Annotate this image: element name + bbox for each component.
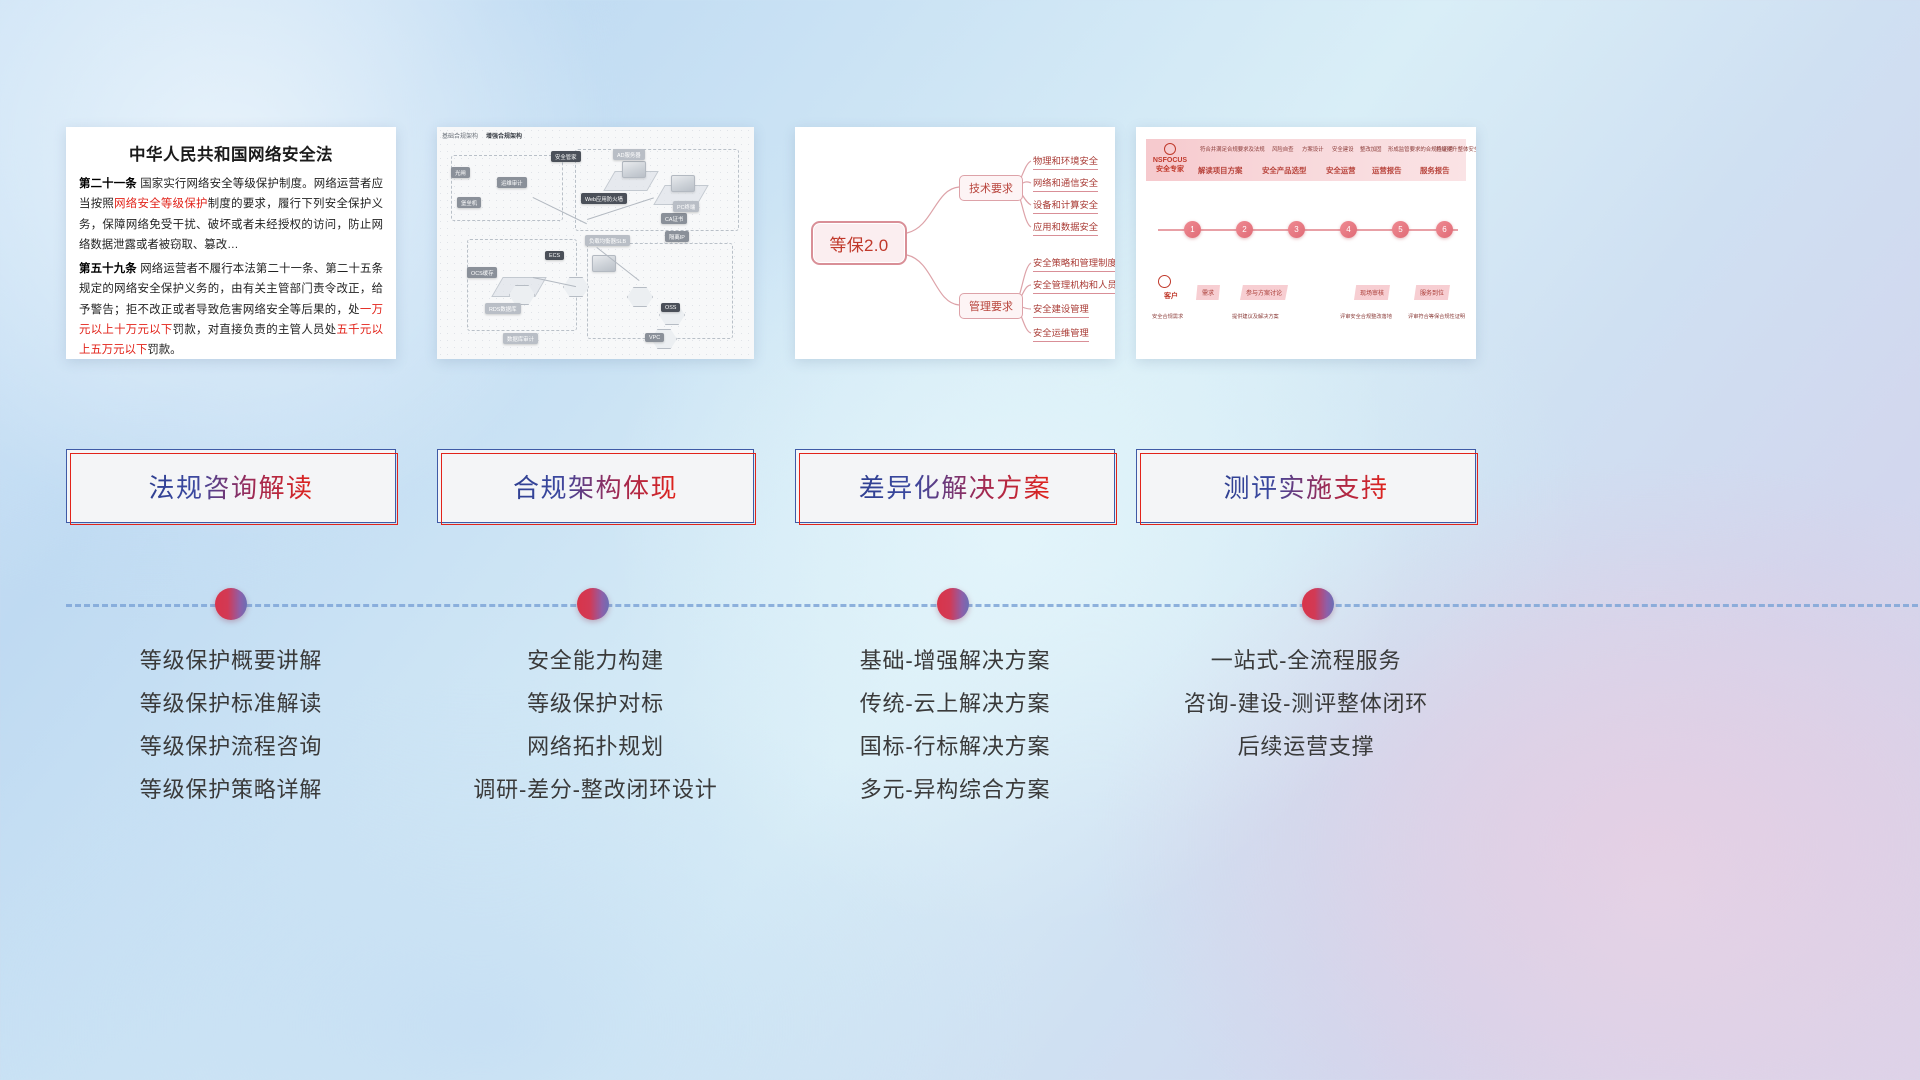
architecture-chip-14: AD服务器 [613, 149, 645, 160]
list-item: 传统-云上解决方案 [795, 683, 1115, 726]
customer-icon [1158, 275, 1171, 288]
architecture-chip-9: OCS缓存 [467, 267, 497, 278]
roadmap-stage-0: 解读项目方案 [1198, 165, 1242, 176]
roadmap-step-0: 1 [1184, 221, 1201, 238]
law-article-59: 第五十九条 网络运营者不履行本法第二十一条、第二十五条规定的网络安全保护义务的，… [79, 259, 383, 359]
timeline-dot-4[interactable] [1302, 588, 1334, 620]
architecture-chip-7: 负载均衡器SLB [585, 235, 630, 246]
roadmap-tag-3: 服务到位 [1414, 285, 1450, 300]
mindmap-branch-management: 管理要求 [959, 293, 1023, 319]
law-article-21-highlight: 网络安全等级保护 [114, 198, 208, 210]
mindmap-leaf-tech-2: 设备和计算安全 [1033, 197, 1098, 214]
architecture-node-slb [592, 255, 616, 272]
law-title: 中华人民共和国网络安全法 [79, 141, 383, 165]
list-item: 等级保护概要讲解 [66, 640, 396, 683]
tab-basic-architecture: 基础合规架构 [442, 131, 478, 140]
column-list-3: 基础-增强解决方案 传统-云上解决方案 国标-行标解决方案 多元-异构综合方案 [795, 640, 1115, 812]
architecture-node-ad-server [622, 161, 646, 178]
roadmap-tag-2: 现场审核 [1354, 285, 1390, 300]
mindmap-leaf-mgmt-1: 安全管理机构和人员 [1033, 277, 1115, 294]
roadmap-note-0: 安全合规需求 [1152, 313, 1183, 320]
list-item: 后续运营支撑 [1136, 726, 1476, 769]
list-item: 国标-行标解决方案 [795, 726, 1115, 769]
mindmap-leaf-tech-3: 应用和数据安全 [1033, 219, 1098, 236]
timeline [0, 587, 1920, 623]
list-item: 等级保护策略详解 [66, 769, 396, 812]
roadmap-note-3: 评审符合等保合规性证明 [1408, 313, 1465, 320]
law-article-59-text-b: 罚款，对直接负责的主管人员处 [173, 324, 337, 336]
architecture-zone-top [575, 149, 739, 231]
column-list-1: 等级保护概要讲解 等级保护标准解读 等级保护流程咨询 等级保护策略详解 [66, 640, 396, 812]
list-item: 调研-差分-整改闭环设计 [437, 769, 754, 812]
roadmap-step-4: 5 [1392, 221, 1409, 238]
column-title-4: 测评实施支持 [1223, 468, 1388, 505]
architecture-chip-12: VPC [645, 333, 664, 342]
list-item: 咨询-建设-测评整体闭环 [1136, 683, 1476, 726]
list-item: 等级保护标准解读 [66, 683, 396, 726]
architecture-chip-0: 安全管家 [551, 151, 581, 162]
column-title-box-3[interactable]: 差异化解决方案 [795, 449, 1115, 523]
card-mindmap-dengbao: 等保2.0 技术要求 管理要求 物理和环境安全 网络和通信安全 设备和计算安全 … [795, 127, 1115, 359]
architecture-chip-8: ECS [545, 251, 564, 260]
list-item: 一站式-全流程服务 [1136, 640, 1476, 683]
mindmap: 等保2.0 技术要求 管理要求 物理和环境安全 网络和通信安全 设备和计算安全 … [795, 127, 1115, 359]
roadmap-header-4: 整改加固 [1360, 145, 1382, 153]
list-item: 多元-异构综合方案 [795, 769, 1115, 812]
column-title-row: 法规咨询解读 合规架构体现 差异化解决方案 测评实施支持 [0, 449, 1920, 523]
list-item: 等级保护对标 [437, 683, 754, 726]
roadmap-header-0: 符合并满足合规要求及法规 [1200, 145, 1265, 153]
roadmap-header-1: 风险自查 [1272, 145, 1294, 153]
roadmap-step-1: 2 [1236, 221, 1253, 238]
architecture-chip-15: PC终端 [673, 201, 699, 212]
architecture-chip-13: 数据库审计 [503, 333, 538, 344]
nsfocus-brand: NSFOCUS 安全专家 [1150, 143, 1190, 175]
roadmap-customer-role: 客户 [1150, 293, 1192, 302]
timeline-dot-1[interactable] [215, 588, 247, 620]
mindmap-leaf-mgmt-0: 安全策略和管理制度 [1033, 255, 1115, 272]
nsfocus-roadmap: NSFOCUS 安全专家 符合并满足合规要求及法规 风险自查 方案设计 安全建设… [1136, 127, 1476, 359]
tab-enhanced-architecture: 增强合规架构 [486, 131, 522, 140]
column-list-2: 安全能力构建 等级保护对标 网络拓扑规划 调研-差分-整改闭环设计 [437, 640, 754, 812]
roadmap-tag-1: 参与方案讨论 [1240, 285, 1288, 300]
architecture-zone-left [451, 155, 563, 221]
architecture-chip-3: Web应用防火墙 [581, 193, 627, 204]
architecture-chip-5: 堡垒机 [457, 197, 481, 208]
roadmap-header-6: 持续提升整体安全合规能力 [1436, 145, 1476, 153]
roadmap-note-1: 提供建议及解决方案 [1232, 313, 1279, 320]
reference-card-row: 中华人民共和国网络安全法 第二十一条 国家实行网络安全等级保护制度。网络运营者应… [0, 127, 1920, 359]
list-item: 等级保护流程咨询 [66, 726, 396, 769]
timeline-dashed-line [66, 604, 1918, 607]
roadmap-stage-4: 服务报告 [1420, 165, 1450, 176]
column-list-4: 一站式-全流程服务 咨询-建设-测评整体闭环 后续运营支撑 [1136, 640, 1476, 769]
column-title-box-1[interactable]: 法规咨询解读 [66, 449, 396, 523]
architecture-diagram: 基础合规架构 增强合规架构 安全管家 运维审计 [437, 127, 754, 359]
roadmap-header-2: 方案设计 [1302, 145, 1324, 153]
person-icon [1164, 143, 1176, 155]
timeline-dot-2[interactable] [577, 588, 609, 620]
column-title-box-4[interactable]: 测评实施支持 [1136, 449, 1476, 523]
law-article-21: 第二十一条 国家实行网络安全等级保护制度。网络运营者应当按照网络安全等级保护制度… [79, 174, 383, 255]
roadmap-tag-0: 需求 [1196, 285, 1220, 300]
roadmap-stage-3: 运营报告 [1372, 165, 1402, 176]
mindmap-leaf-tech-1: 网络和通信安全 [1033, 175, 1098, 192]
roadmap-step-3: 4 [1340, 221, 1357, 238]
list-item: 安全能力构建 [437, 640, 754, 683]
architecture-chip-2: 光闸 [451, 167, 470, 178]
mindmap-branch-technical: 技术要求 [959, 175, 1023, 201]
timeline-dot-3[interactable] [937, 588, 969, 620]
mindmap-leaf-mgmt-3: 安全运维管理 [1033, 325, 1089, 342]
architecture-chip-6: 隔离IP [665, 231, 689, 242]
column-title-box-2[interactable]: 合规架构体现 [437, 449, 754, 523]
architecture-tabs: 基础合规架构 增强合规架构 [442, 131, 522, 140]
card-nsfocus-roadmap: NSFOCUS 安全专家 符合并满足合规要求及法规 风险自查 方案设计 安全建设… [1136, 127, 1476, 359]
roadmap-note-2: 评审安全合规整改落地 [1340, 313, 1392, 320]
list-item: 网络拓扑规划 [437, 726, 754, 769]
card-compliance-architecture: 基础合规架构 增强合规架构 安全管家 运维审计 [437, 127, 754, 359]
architecture-chip-11: OSS [661, 303, 680, 312]
mindmap-leaf-tech-0: 物理和环境安全 [1033, 153, 1098, 170]
column-title-2: 合规架构体现 [513, 468, 678, 505]
slide-stage: 中华人民共和国网络安全法 第二十一条 国家实行网络安全等级保护制度。网络运营者应… [0, 0, 1920, 1080]
architecture-chip-4: CA证书 [661, 213, 687, 224]
nsfocus-brand-name: NSFOCUS [1150, 157, 1190, 166]
law-article-21-label: 第二十一条 [79, 178, 137, 190]
roadmap-stage-2: 安全运营 [1326, 165, 1356, 176]
architecture-node-pc-terminal [671, 175, 695, 192]
column-title-1: 法规咨询解读 [148, 468, 313, 505]
roadmap-customer-label: 客户 [1150, 293, 1192, 302]
nsfocus-brand-sub: 安全专家 [1150, 166, 1190, 175]
mindmap-leaf-mgmt-2: 安全建设管理 [1033, 301, 1089, 318]
law-article-59-label: 第五十九条 [79, 263, 137, 275]
law-document: 中华人民共和国网络安全法 第二十一条 国家实行网络安全等级保护制度。网络运营者应… [66, 127, 396, 359]
column-title-3: 差异化解决方案 [859, 468, 1052, 505]
card-cybersecurity-law: 中华人民共和国网络安全法 第二十一条 国家实行网络安全等级保护制度。网络运营者应… [66, 127, 396, 359]
architecture-chip-10: RDS数据库 [485, 303, 521, 314]
law-article-59-text-c: 罚款。 [147, 344, 181, 356]
roadmap-step-5: 6 [1436, 221, 1453, 238]
mindmap-root-node: 等保2.0 [811, 221, 907, 265]
roadmap-header-3: 安全建设 [1332, 145, 1354, 153]
roadmap-stage-1: 安全产品选型 [1262, 165, 1306, 176]
roadmap-rail [1158, 229, 1458, 231]
list-item: 基础-增强解决方案 [795, 640, 1115, 683]
architecture-chip-1: 运维审计 [497, 177, 527, 188]
roadmap-step-2: 3 [1288, 221, 1305, 238]
